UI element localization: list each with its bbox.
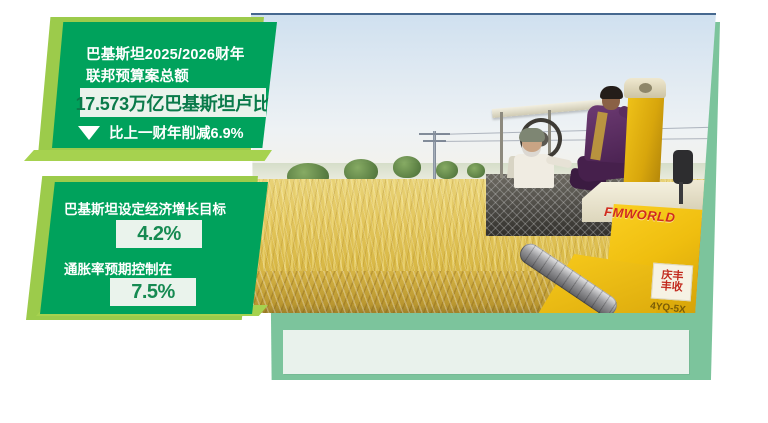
- growth-target-value-box: 4.2%: [116, 220, 202, 248]
- photo-caption-area: [283, 330, 689, 374]
- combine-harvester: FMWORLD 庆丰丰收 4YQ-5X: [474, 58, 716, 313]
- canopy-post: [500, 112, 503, 178]
- budget-panel: 巴基斯坦2025/2026财年 联邦预算案总额 17.573万亿巴基斯坦卢比 比…: [52, 22, 277, 148]
- infographic-canvas: FMWORLD 庆丰丰收 4YQ-5X 巴基斯坦2025/2026财年 联邦预算…: [0, 0, 768, 423]
- growth-target-value: 4.2%: [137, 223, 181, 246]
- tree-icon: [436, 161, 458, 179]
- operator-hair: [600, 86, 623, 99]
- harvester-placard: 庆丰丰收: [651, 263, 693, 302]
- tree-icon: [393, 156, 421, 178]
- growth-target-label: 巴基斯坦设定经济增长目标: [64, 198, 226, 218]
- budget-panel-strip: [24, 150, 272, 161]
- harvester-mirror-arm: [679, 182, 683, 204]
- harvester-unloading-column: [623, 85, 664, 191]
- inflation-target-label: 通胀率预期控制在: [64, 258, 172, 278]
- inflation-target-value-box: 7.5%: [110, 278, 196, 306]
- targets-panel: 巴基斯坦设定经济增长目标 4.2% 通胀率预期控制在 7.5%: [40, 182, 268, 314]
- budget-value: 17.573万亿巴基斯坦卢比: [76, 90, 271, 116]
- inflation-target-value: 7.5%: [131, 281, 175, 304]
- harvester-placard-text: 庆丰丰收: [660, 270, 683, 293]
- driver-turban: [519, 128, 545, 142]
- budget-value-box: 17.573万亿巴基斯坦卢比: [80, 88, 266, 117]
- photo-top-border: [251, 13, 716, 15]
- harvester-photo: FMWORLD 庆丰丰收 4YQ-5X: [251, 13, 716, 313]
- budget-panel-title: 巴基斯坦2025/2026财年 联邦预算案总额: [86, 44, 268, 88]
- budget-title-line2: 联邦预算案总额: [86, 66, 268, 88]
- harvester-mirror: [673, 150, 693, 184]
- budget-delta-text: 比上一财年削减6.9%: [109, 122, 244, 143]
- budget-title-line1: 巴基斯坦2025/2026财年: [86, 44, 268, 66]
- triangle-down-icon: [78, 126, 100, 140]
- harvester-column-port: [639, 83, 652, 93]
- budget-delta: 比上一财年削减6.9%: [78, 122, 244, 143]
